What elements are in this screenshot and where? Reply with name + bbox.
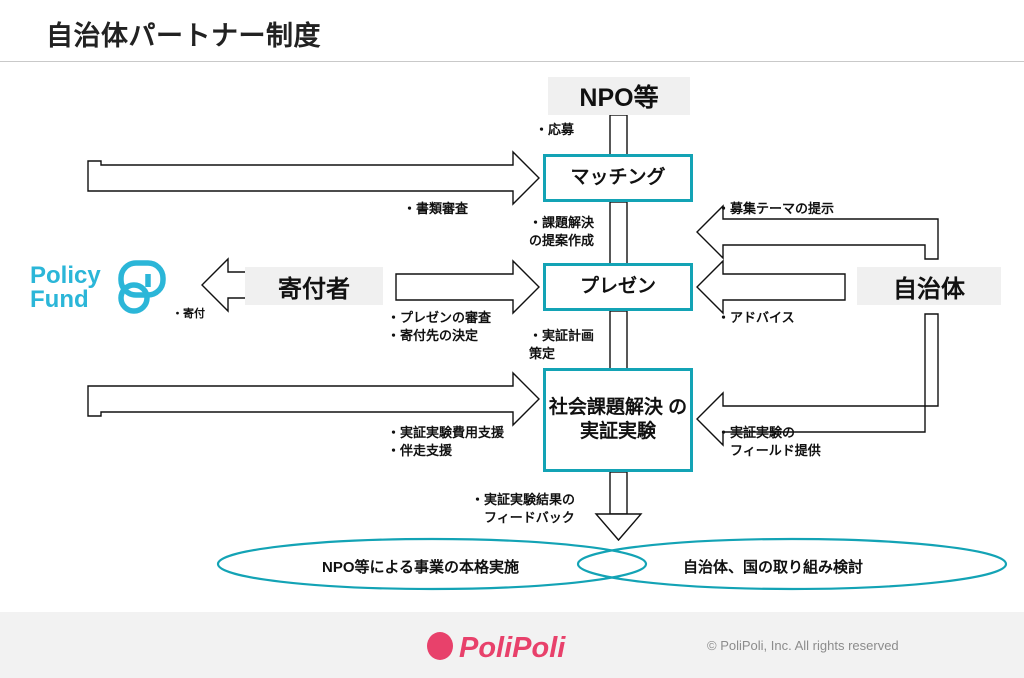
- note-field-provision: ・実証実験の フィールド提供: [717, 424, 821, 459]
- process-box-matching: マッチング: [543, 154, 693, 202]
- note-document-review: ・書類審査: [403, 200, 468, 218]
- note-proposal-creation: ・課題解決 の提案作成: [529, 214, 594, 249]
- arrow-donor-to-experiment: [88, 373, 539, 425]
- process-box-presentation: プレゼン: [543, 263, 693, 311]
- outcome-label-left: NPO等による事業の本格実施: [322, 556, 519, 577]
- outcome-label-right: 自治体、国の取り組み検討: [683, 556, 863, 577]
- note-theme-presentation: ・募集テーマの提示: [717, 200, 834, 218]
- note-apply: ・応募: [535, 121, 574, 139]
- copyright-text: © PoliPoli, Inc. All rights reserved: [707, 638, 899, 653]
- note-cost-and-hands-on-support: ・実証実験費用支援 ・伴走支援: [387, 424, 504, 459]
- diagram-stage: NPO等 寄付者 自治体 マッチング プレゼン 社会課題解決 の実証実験 ・応募…: [0, 61, 1024, 612]
- slide-canvas: 自治体パートナー制度: [0, 0, 1024, 678]
- policy-fund-wordmark-line2: Fund: [30, 286, 89, 313]
- arrow-municipality-to-presentation: [697, 261, 845, 313]
- policy-fund-p-mark: [121, 263, 163, 311]
- actor-label-municipality: 自治体: [857, 267, 1001, 305]
- flow-arrowhead-down: [596, 514, 641, 540]
- policy-fund-wordmark-line1: Policy: [30, 262, 101, 289]
- process-box-experiment: 社会課題解決 の実証実験: [543, 368, 693, 472]
- note-result-feedback: ・実証実験結果の フィードバック: [471, 491, 575, 526]
- policy-fund-logo: Policy Fund: [30, 257, 170, 319]
- page-title: 自治体パートナー制度: [46, 14, 321, 53]
- footer-bar: PoliPoli © PoliPoli, Inc. All rights res…: [0, 612, 1024, 678]
- polipoli-logo: PoliPoli: [425, 628, 605, 662]
- actor-label-npo: NPO等: [548, 77, 690, 115]
- note-advice: ・アドバイス: [717, 309, 795, 327]
- note-experiment-plan: ・実証計画 策定: [529, 327, 594, 362]
- diagram-connectors: [0, 61, 1024, 612]
- polipoli-dot-icon: [427, 632, 453, 660]
- title-bar: 自治体パートナー制度: [0, 0, 1024, 61]
- arrow-donor-to-matching: [88, 152, 539, 204]
- note-screening-and-decision: ・プレゼンの審査 ・寄付先の決定: [387, 309, 491, 344]
- note-donation: ・寄付: [172, 307, 205, 322]
- actor-label-donor: 寄付者: [245, 267, 383, 305]
- polipoli-wordmark: PoliPoli: [459, 632, 566, 662]
- arrow-donor-to-presentation: [396, 261, 539, 313]
